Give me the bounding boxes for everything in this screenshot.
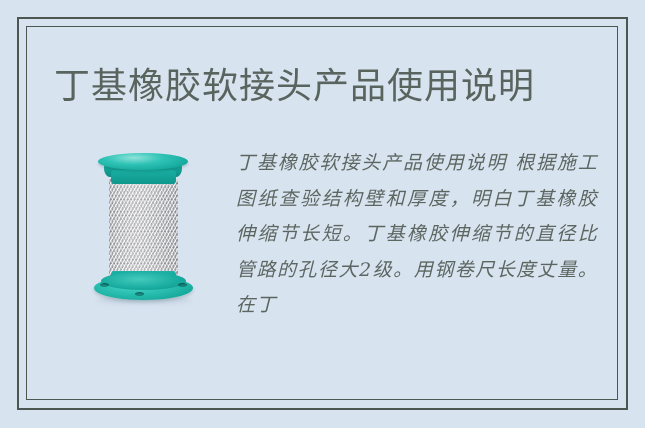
- braided-hose-body: [109, 179, 178, 277]
- bottom-flange-face: [101, 272, 186, 290]
- article-body: 丁基橡胶软接头产品使用说明 根据施工图纸查验结构壁和厚度，明白丁基橡胶伸缩节长短…: [236, 146, 598, 324]
- bolt-hole: [100, 283, 109, 287]
- document-page: 丁基橡胶软接头产品使用说明 丁基橡胶软接头产品使用说明 根据施工图纸查验结构壁和…: [0, 0, 645, 428]
- product-photo-stage: [77, 145, 213, 310]
- page-title: 丁基橡胶软接头产品使用说明: [54, 63, 535, 109]
- content-area: 丁基橡胶软接头产品使用说明 根据施工图纸查验结构壁和厚度，明白丁基橡胶伸缩节长短…: [0, 140, 645, 340]
- top-collar: [111, 170, 176, 184]
- bolt-hole: [135, 292, 144, 296]
- product-photo: [77, 145, 213, 310]
- top-flange-disc: [98, 153, 188, 170]
- bolt-hole: [178, 283, 187, 287]
